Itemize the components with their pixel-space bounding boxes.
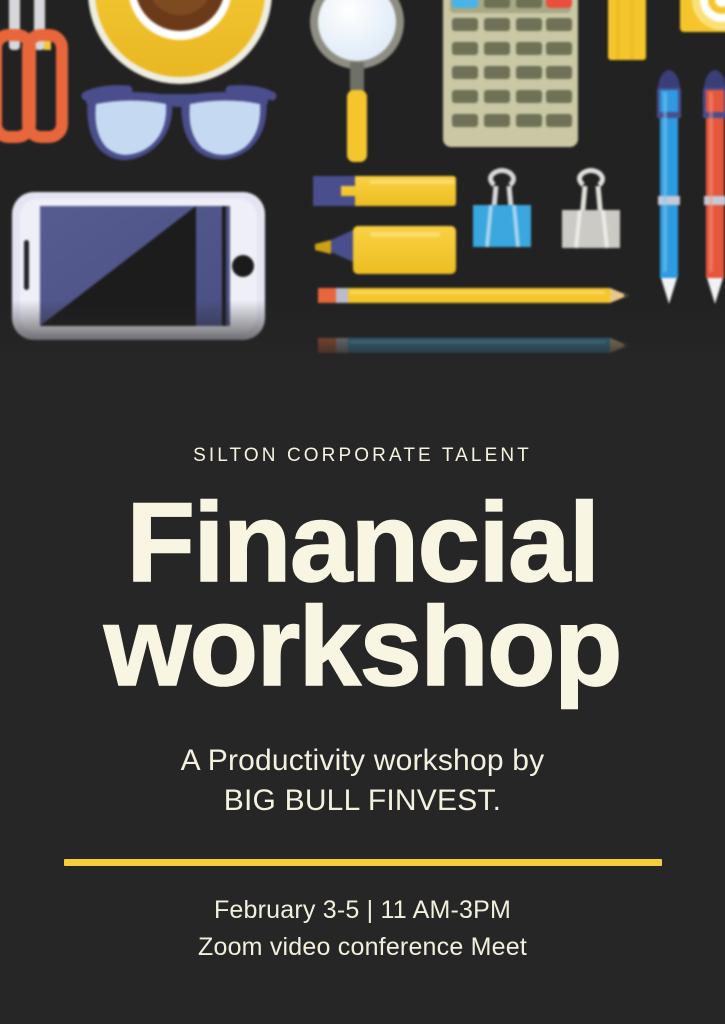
highlighter-flat-icon [313, 176, 456, 206]
subtitle: A Productivity workshop by BIG BULL FINV… [181, 741, 545, 820]
pencil-blue-icon [318, 338, 630, 353]
event-location: Zoom video conference Meet [198, 930, 527, 966]
calculator-icon [443, 0, 578, 147]
event-date-time: February 3-5 | 11 AM-3PM [198, 893, 527, 929]
subtitle-line-1: A Productivity workshop by [181, 741, 545, 781]
ruler-block-icon [608, 0, 646, 60]
pencil-yellow-icon [318, 288, 630, 303]
accent-divider [64, 859, 662, 866]
title-line-2: workshop [104, 595, 621, 699]
tape-dispenser-icon [680, 0, 725, 32]
hero-flatlay-image [0, 0, 725, 370]
title-line-1: Financial [104, 491, 621, 595]
poster-content: SILTON CORPORATE TALENT Financial worksh… [0, 370, 725, 1024]
organization-eyebrow: SILTON CORPORATE TALENT [193, 446, 532, 465]
poster-canvas: SILTON CORPORATE TALENT Financial worksh… [0, 0, 725, 1024]
page-title: Financial workshop [104, 491, 621, 699]
smartphone-icon [12, 192, 265, 340]
event-details: February 3-5 | 11 AM-3PM Zoom video conf… [198, 893, 527, 966]
pen-blue-icon [657, 70, 681, 304]
pen-red-icon [703, 70, 725, 304]
subtitle-line-2: BIG BULL FINVEST. [181, 781, 545, 821]
